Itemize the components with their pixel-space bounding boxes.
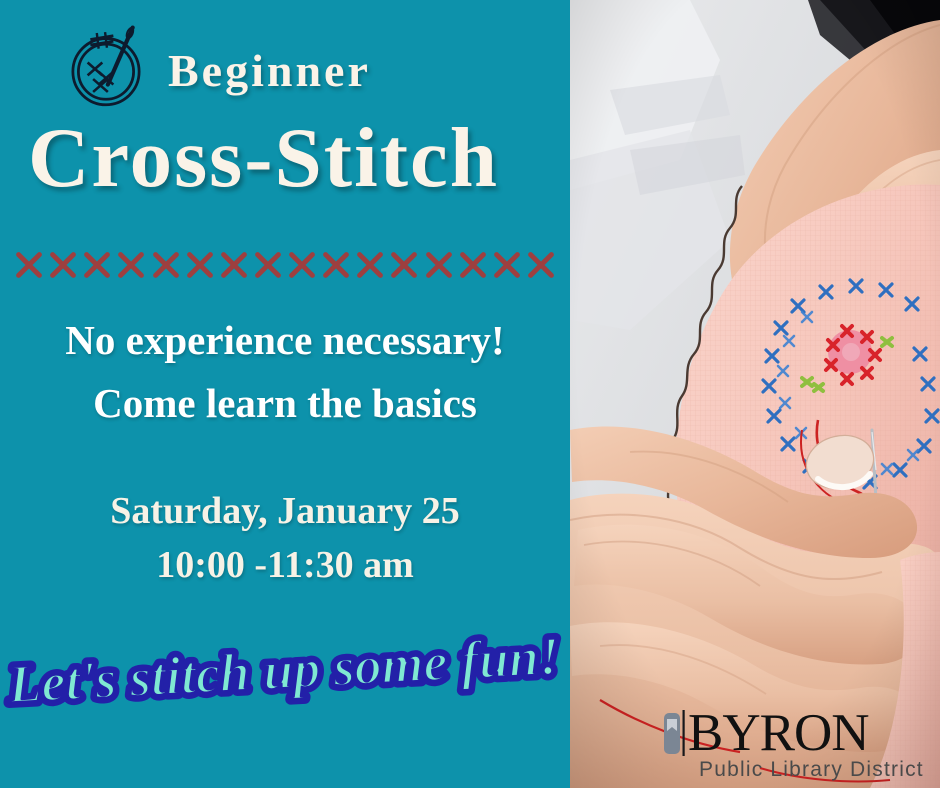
x-stitch-icon <box>16 252 42 278</box>
x-stitch-icon <box>187 252 213 278</box>
x-stitch-icon <box>391 252 417 278</box>
x-stitch-icon <box>84 252 110 278</box>
x-stitch-icon <box>50 252 76 278</box>
schedule-block: Saturday, January 25 10:00 -11:30 am <box>0 492 570 586</box>
x-stitch-icon <box>357 252 383 278</box>
body-copy: No experience necessary! Come learn the … <box>0 320 570 424</box>
x-stitch-icon <box>323 252 349 278</box>
title-row: Beginner <box>60 28 560 112</box>
poster: Beginner Cross-Stitch No experience nece… <box>0 0 940 788</box>
body-line-2: Come learn the basics <box>0 383 570 424</box>
cross-stitch-photo <box>570 0 940 788</box>
x-stitch-icon <box>221 252 247 278</box>
eyebrow-text: Beginner <box>168 44 371 97</box>
x-stitch-icon <box>460 252 486 278</box>
body-line-1: No experience necessary! <box>0 320 570 361</box>
x-stitch-icon <box>118 252 144 278</box>
x-stitch-icon <box>426 252 452 278</box>
event-date: Saturday, January 25 <box>0 492 570 532</box>
x-stitch-divider <box>0 246 570 284</box>
info-panel: Beginner Cross-Stitch No experience nece… <box>0 0 570 788</box>
page-title: Cross-Stitch <box>28 116 558 201</box>
x-stitch-icon <box>528 252 554 278</box>
x-stitch-icon <box>289 252 315 278</box>
tagline: Let's stitch up some fun! Let's stitch u… <box>0 626 570 718</box>
x-stitch-icon <box>153 252 179 278</box>
photo-illustration <box>570 0 940 788</box>
tagline-fill-text: Let's stitch up some fun! <box>6 626 561 715</box>
tagline-svg: Let's stitch up some fun! Let's stitch u… <box>0 626 570 718</box>
x-stitch-icon <box>494 252 520 278</box>
event-time: 10:00 -11:30 am <box>0 546 570 586</box>
embroidery-hoop-icon <box>60 22 152 114</box>
x-stitch-icon <box>255 252 281 278</box>
